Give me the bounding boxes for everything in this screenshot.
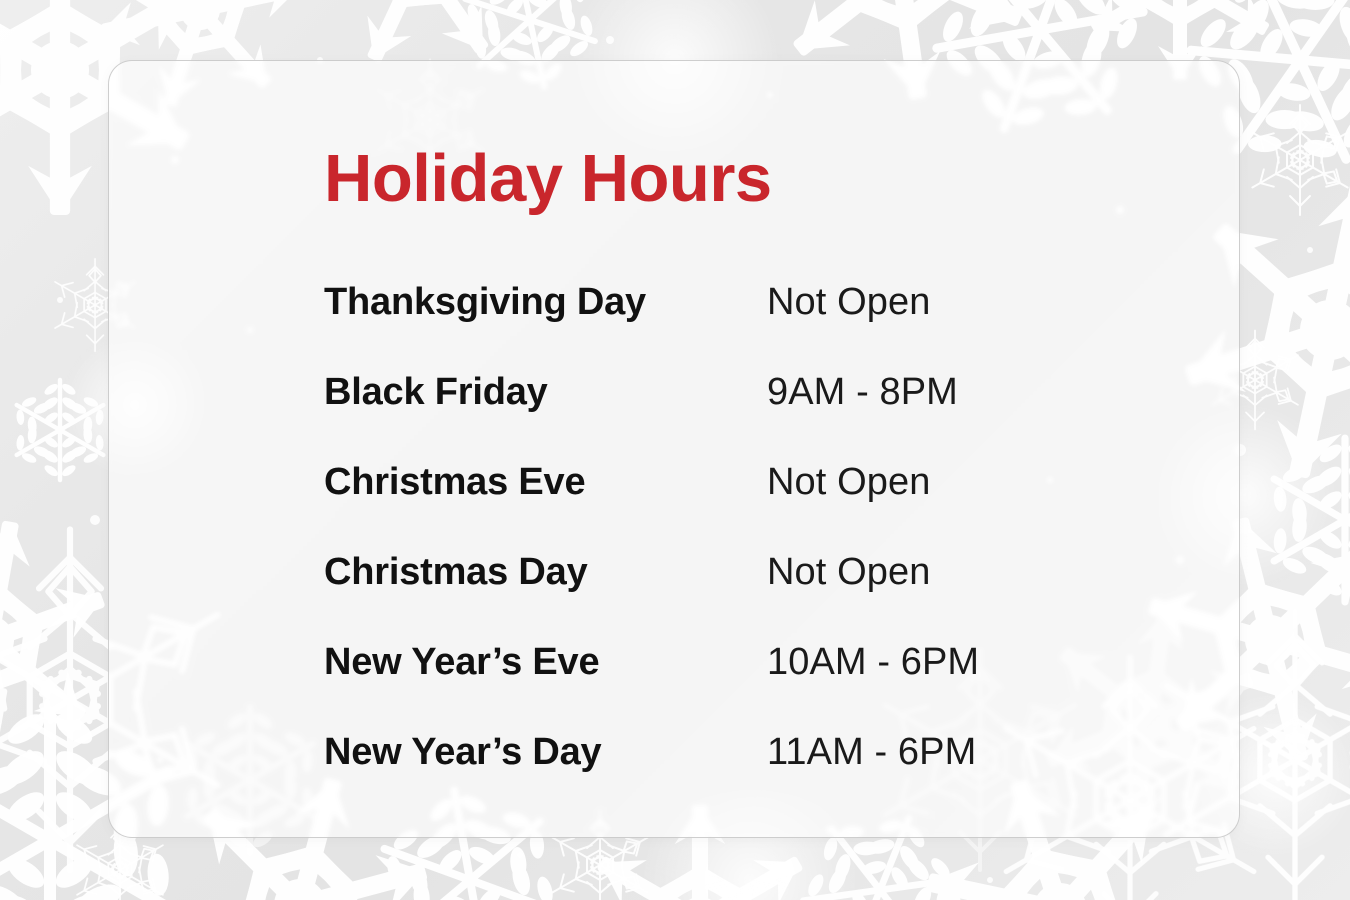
page-title: Holiday Hours — [324, 145, 772, 212]
table-row: Christmas Eve Not Open — [324, 437, 1144, 527]
holiday-time: Not Open — [767, 257, 1144, 347]
holiday-hours-card: Holiday Hours Thanksgiving Day Not Open … — [108, 60, 1240, 838]
table-row: Thanksgiving Day Not Open — [324, 257, 1144, 347]
holiday-time: Not Open — [767, 527, 1144, 617]
holiday-time: 11AM - 6PM — [767, 707, 1144, 797]
table-row: Black Friday 9AM - 8PM — [324, 347, 1144, 437]
table-row: New Year’s Eve 10AM - 6PM — [324, 617, 1144, 707]
holiday-name: Christmas Day — [324, 527, 767, 617]
holiday-time: 10AM - 6PM — [767, 617, 1144, 707]
holiday-name: New Year’s Day — [324, 707, 767, 797]
holiday-name: Black Friday — [324, 347, 767, 437]
holiday-time: 9AM - 8PM — [767, 347, 1144, 437]
holiday-hours-table: Thanksgiving Day Not Open Black Friday 9… — [324, 257, 1144, 797]
holiday-time: Not Open — [767, 437, 1144, 527]
holiday-hours-graphic: Holiday Hours Thanksgiving Day Not Open … — [0, 0, 1350, 900]
table-row: New Year’s Day 11AM - 6PM — [324, 707, 1144, 797]
holiday-name: Thanksgiving Day — [324, 257, 767, 347]
table-row: Christmas Day Not Open — [324, 527, 1144, 617]
holiday-name: Christmas Eve — [324, 437, 767, 527]
holiday-name: New Year’s Eve — [324, 617, 767, 707]
